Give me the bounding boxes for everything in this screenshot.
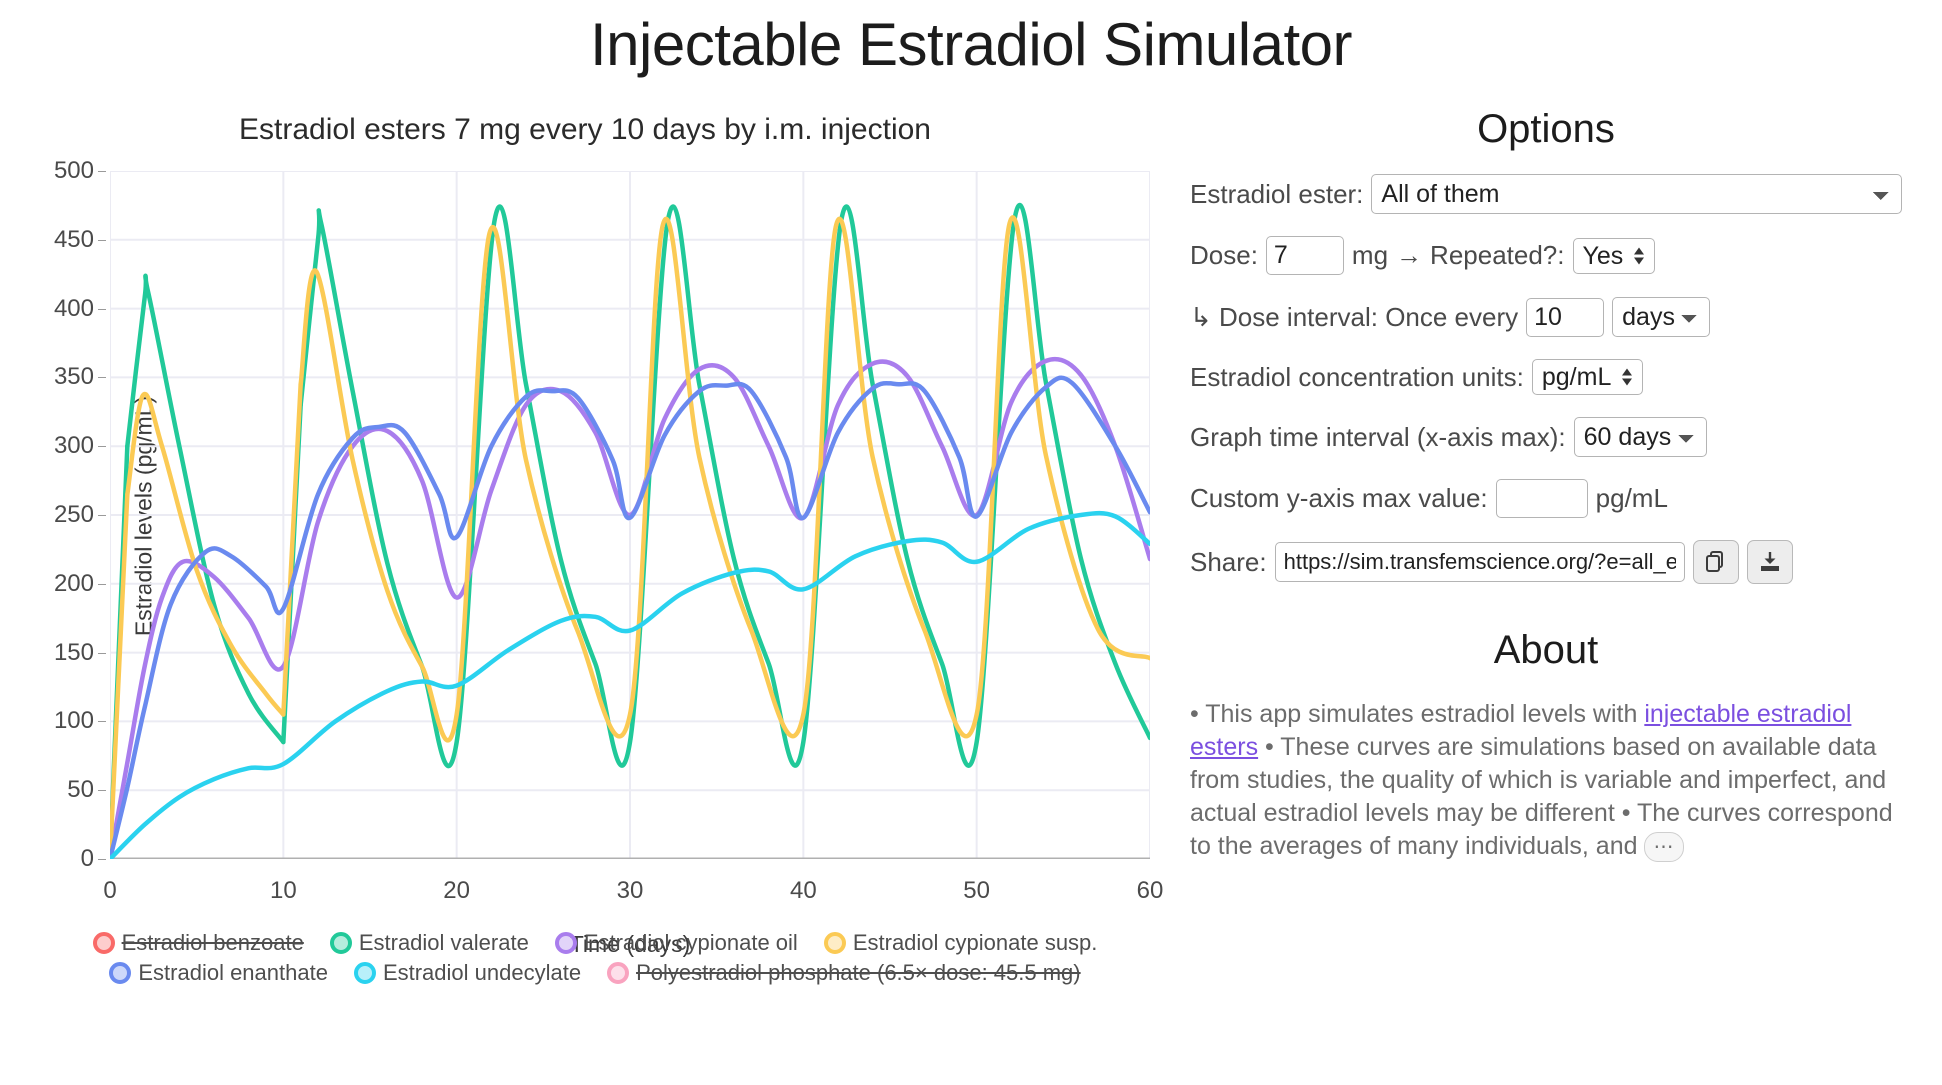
- interval-value-input[interactable]: [1526, 298, 1604, 337]
- curve-riser: [283, 384, 300, 714]
- repeated-label: Repeated?:: [1430, 240, 1564, 271]
- option-row-time-interval: Graph time interval (x-axis max): 60 day…: [1190, 417, 1902, 457]
- dose-label: Dose:: [1190, 240, 1258, 271]
- option-row-interval: ↳ Dose interval: Once every days: [1190, 297, 1902, 337]
- options-heading: Options: [1190, 107, 1902, 152]
- estradiol-ester-select[interactable]: All of them: [1371, 174, 1902, 214]
- x-tick-40: 40: [790, 877, 817, 905]
- share-label: Share:: [1190, 547, 1267, 578]
- plot-wrapper: Estradiol levels (pg/mL) 050100150200250…: [110, 171, 1150, 861]
- legend-label: Estradiol undecylate: [383, 960, 581, 986]
- legend-item-estradiol-valerate[interactable]: Estradiol valerate: [330, 930, 529, 956]
- custom-ymax-label: Custom y-axis max value:: [1190, 483, 1488, 514]
- copy-icon: [1704, 550, 1728, 574]
- y-tick-50: 50: [36, 776, 106, 804]
- share-url-input[interactable]: [1275, 542, 1685, 582]
- legend-swatch-icon: [109, 962, 131, 984]
- option-row-dose: Dose: mg → Repeated?: Yes: [1190, 236, 1902, 275]
- about-text: • This app simulates estradiol levels wi…: [1190, 698, 1902, 863]
- interval-unit-select[interactable]: days: [1612, 297, 1710, 337]
- legend-swatch-icon: [555, 932, 577, 954]
- interval-label: ↳ Dose interval: Once every: [1190, 302, 1518, 333]
- y-tick-0: 0: [36, 845, 106, 873]
- options-column: Options Estradiol ester: All of them Dos…: [1190, 85, 1942, 1075]
- y-tick-150: 150: [36, 639, 106, 667]
- y-tick-500: 500: [36, 157, 106, 185]
- chart-column: Estradiol esters 7 mg every 10 days by i…: [0, 85, 1190, 1075]
- custom-ymax-input[interactable]: [1496, 479, 1588, 518]
- curve-estradiol-cypionate-susp: [301, 217, 1150, 740]
- chart-title: Estradiol esters 7 mg every 10 days by i…: [0, 113, 1190, 147]
- option-row-ester: Estradiol ester: All of them: [1190, 174, 1902, 214]
- legend-label: Estradiol cypionate susp.: [853, 930, 1098, 956]
- x-tick-60: 60: [1137, 877, 1164, 905]
- legend-label: Estradiol valerate: [359, 930, 529, 956]
- graph-time-interval-select[interactable]: 60 days: [1574, 417, 1707, 457]
- y-tick-100: 100: [36, 707, 106, 735]
- about-heading: About: [1190, 628, 1902, 673]
- legend-swatch-icon: [607, 962, 629, 984]
- y-tick-450: 450: [36, 226, 106, 254]
- dose-unit-label: mg: [1352, 240, 1388, 271]
- legend-swatch-icon: [354, 962, 376, 984]
- ymax-unit-label: pg/mL: [1596, 483, 1668, 514]
- repeated-stepper-wrap: Yes: [1573, 238, 1655, 274]
- about-text-part2: • These curves are simulations based on …: [1190, 733, 1893, 860]
- x-tick-30: 30: [617, 877, 644, 905]
- legend-item-estradiol-undecylate[interactable]: Estradiol undecylate: [354, 960, 581, 986]
- legend-label: Estradiol cypionate oil: [584, 930, 798, 956]
- main-layout: Estradiol esters 7 mg every 10 days by i…: [0, 85, 1942, 1075]
- download-icon: [1758, 550, 1782, 574]
- option-row-ymax: Custom y-axis max value: pg/mL: [1190, 479, 1902, 518]
- chart-plot-area: [110, 171, 1150, 859]
- legend-item-estradiol-cypionate-susp[interactable]: Estradiol cypionate susp.: [824, 930, 1098, 956]
- units-stepper-wrap: pg/mL: [1532, 359, 1643, 395]
- legend-swatch-icon: [93, 932, 115, 954]
- x-tick-50: 50: [963, 877, 990, 905]
- y-tick-300: 300: [36, 432, 106, 460]
- legend-swatch-icon: [824, 932, 846, 954]
- concentration-units-select[interactable]: pg/mL: [1532, 359, 1643, 395]
- option-row-units: Estradiol concentration units: pg/mL: [1190, 359, 1902, 395]
- about-text-part1: • This app simulates estradiol levels wi…: [1190, 700, 1644, 728]
- y-tick-200: 200: [36, 570, 106, 598]
- graph-time-interval-label: Graph time interval (x-axis max):: [1190, 422, 1566, 453]
- legend-item-estradiol-benzoate[interactable]: Estradiol benzoate: [93, 930, 304, 956]
- chart-legend: Estradiol benzoateEstradiol valerateEstr…: [0, 930, 1190, 986]
- arrow-right-icon: →: [1396, 240, 1422, 271]
- expand-about-button[interactable]: ⋯: [1644, 832, 1684, 862]
- ester-label: Estradiol ester:: [1190, 179, 1363, 210]
- concentration-units-label: Estradiol concentration units:: [1190, 362, 1524, 393]
- x-tick-10: 10: [270, 877, 297, 905]
- legend-label: Estradiol enanthate: [138, 960, 328, 986]
- legend-swatch-icon: [330, 932, 352, 954]
- option-row-share: Share:: [1190, 540, 1902, 584]
- legend-item-estradiol-cypionate-oil[interactable]: Estradiol cypionate oil: [555, 930, 798, 956]
- copy-button[interactable]: [1693, 540, 1739, 584]
- download-button[interactable]: [1747, 540, 1793, 584]
- dose-input[interactable]: [1266, 236, 1344, 275]
- x-tick-0: 0: [103, 877, 116, 905]
- legend-item-polyestradiol-phosphate-6-5-dose-45-5-mg[interactable]: Polyestradiol phosphate (6.5× dose: 45.5…: [607, 960, 1081, 986]
- legend-item-estradiol-enanthate[interactable]: Estradiol enanthate: [109, 960, 328, 986]
- y-tick-350: 350: [36, 363, 106, 391]
- x-tick-20: 20: [443, 877, 470, 905]
- page-title: Injectable Estradiol Simulator: [0, 10, 1942, 79]
- repeated-select[interactable]: Yes: [1573, 238, 1655, 274]
- y-tick-250: 250: [36, 501, 106, 529]
- legend-label: Polyestradiol phosphate (6.5× dose: 45.5…: [636, 960, 1081, 986]
- y-tick-400: 400: [36, 295, 106, 323]
- legend-label: Estradiol benzoate: [122, 930, 304, 956]
